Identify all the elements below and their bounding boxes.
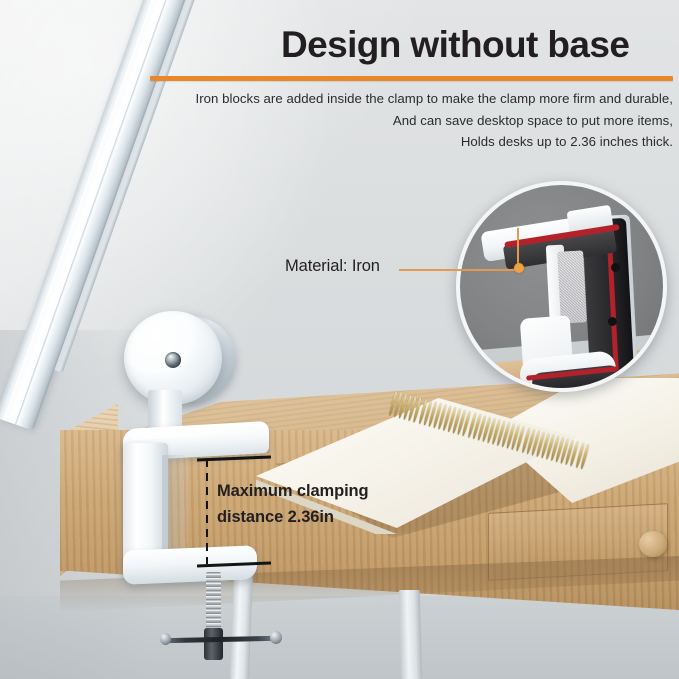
clamp-handle-cap-left <box>160 633 171 645</box>
measure-label-line-1: Maximum clamping <box>217 478 417 504</box>
material-leader-riser <box>517 228 519 268</box>
measure-label: Maximum clamping distance 2.36in <box>217 478 417 530</box>
clamp-handle-cap-right <box>270 631 282 644</box>
clamp-cutaway-inset <box>456 181 667 392</box>
desk-leg-right <box>399 590 422 679</box>
product-feature-image: Maximum clamping distance 2.36in Materia… <box>0 0 679 679</box>
measure-dashed-line <box>206 459 208 564</box>
drawer-knob-icon[interactable] <box>639 531 667 557</box>
clamp-screw-thread <box>206 572 221 634</box>
body-line-3: Holds desks up to 2.36 inches thick. <box>130 131 673 153</box>
clamp-inner-notch <box>162 455 188 551</box>
material-label: Material: Iron <box>285 257 380 276</box>
material-leader-dot-icon <box>514 263 524 273</box>
header-divider-rule <box>150 76 673 81</box>
cutaway-screw-hole-lower-icon <box>608 317 617 326</box>
clamp-screw-collar <box>204 628 223 660</box>
header-body-text: Iron blocks are added inside the clamp t… <box>130 88 673 153</box>
body-line-2: And can save desktop space to put more i… <box>130 110 673 132</box>
cutaway-screw-hole-upper-icon <box>611 263 620 272</box>
hinge-neck <box>148 390 182 428</box>
hinge-pivot-screw-icon <box>165 352 181 368</box>
page-title: Design without base <box>281 24 629 66</box>
body-line-1: Iron blocks are added inside the clamp t… <box>130 88 673 110</box>
measure-label-line-2: distance 2.36in <box>217 504 417 530</box>
cutaway-iron-core <box>557 250 587 323</box>
material-leader-line <box>399 269 519 271</box>
